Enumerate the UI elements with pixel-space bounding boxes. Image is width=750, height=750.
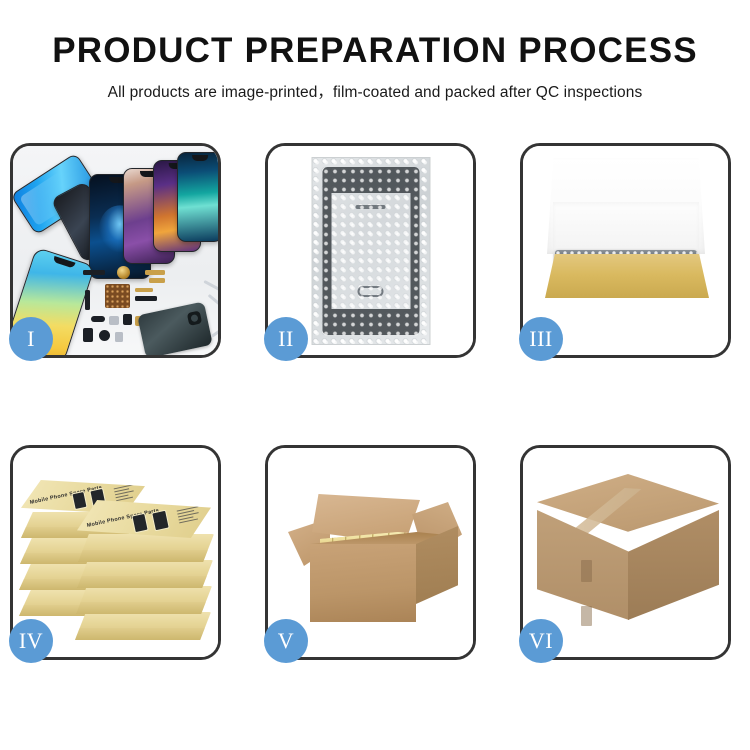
carton-seam-top [581, 560, 592, 582]
step-panel-2: II [265, 143, 476, 358]
header: PRODUCT PREPARATION PROCESS All products… [0, 0, 750, 102]
step-panel-6: VI [520, 445, 731, 660]
box-stack: Mobile Phone Spare Parts [19, 464, 215, 644]
step-badge-1: I [9, 317, 53, 361]
step-badge-5: V [264, 619, 308, 663]
spare-parts-cluster [83, 264, 218, 355]
step-panel-1: I [10, 143, 221, 358]
page-title: PRODUCT PREPARATION PROCESS [0, 30, 750, 72]
phone-screen-teal [177, 152, 218, 242]
product-preparation-infographic: PRODUCT PREPARATION PROCESS All products… [0, 0, 750, 750]
open-carton [288, 486, 460, 626]
kraft-box-base [545, 254, 709, 298]
step-badge-2: II [264, 317, 308, 361]
carton-seam-bottom [581, 606, 592, 626]
sealed-carton [537, 474, 719, 634]
step-badge-4: IV [9, 619, 53, 663]
step-badge-3: III [519, 317, 563, 361]
step-panel-3: III [520, 143, 731, 358]
carton-side-front [310, 544, 416, 622]
step-badge-6: VI [519, 619, 563, 663]
phone-back-housing [137, 301, 213, 355]
page-subtitle: All products are image-printed，film-coat… [0, 80, 750, 102]
box-label-front: Mobile Phone Spare Parts [86, 508, 159, 529]
step-panel-5: V [265, 445, 476, 660]
wrapped-phone-screen [322, 167, 419, 335]
bubble-wrap-package [312, 158, 429, 344]
steps-grid: I II [10, 143, 740, 660]
step-panel-4: Mobile Phone Spare Parts [10, 445, 221, 660]
